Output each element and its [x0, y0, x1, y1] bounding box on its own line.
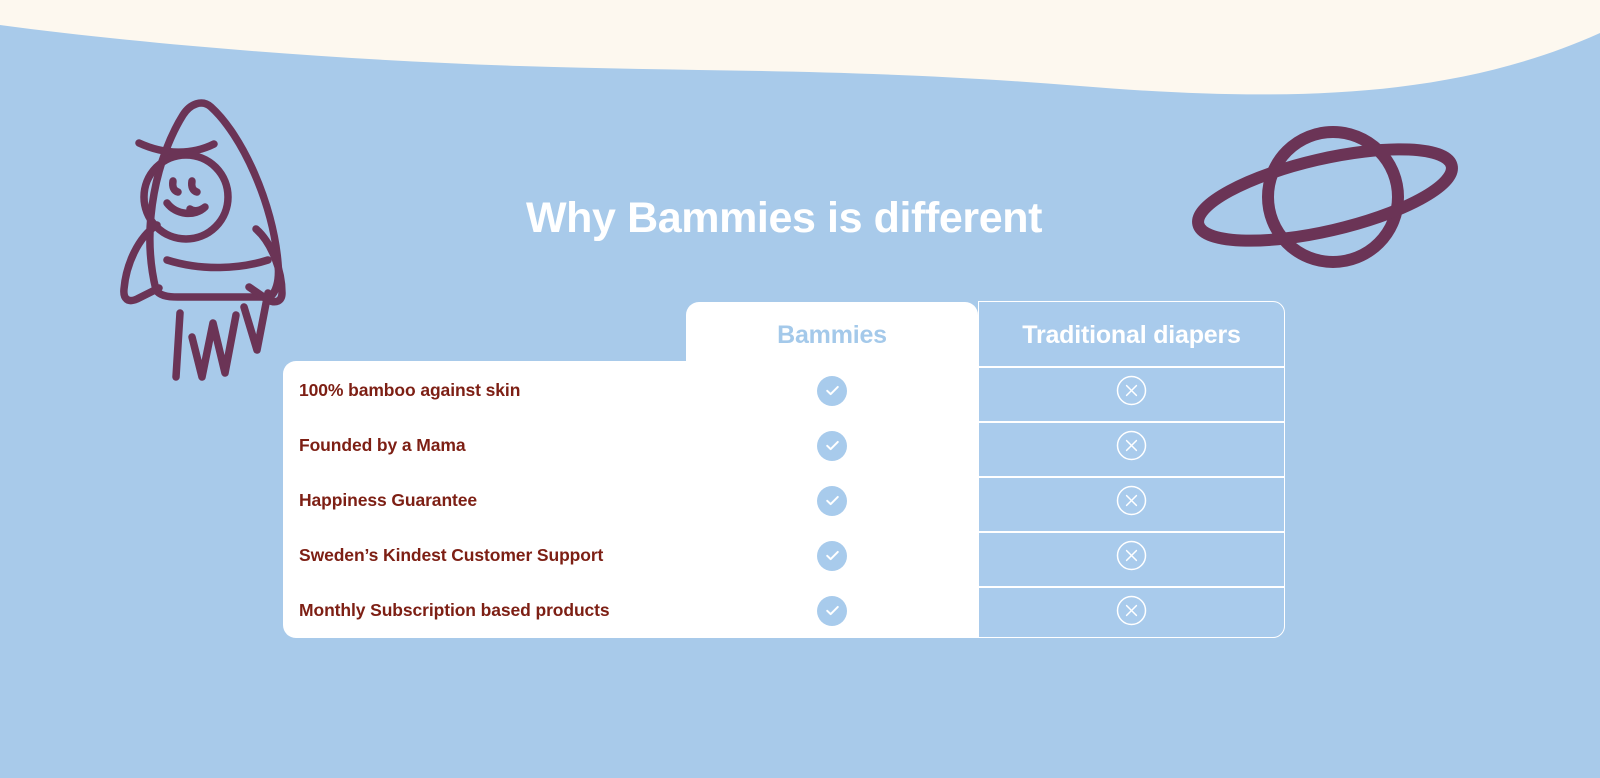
feature-label: Monthly Subscription based products [299, 583, 610, 638]
feature-label: Founded by a Mama [299, 418, 466, 473]
cross-circle-icon [1116, 540, 1147, 571]
check-circle-icon [817, 486, 847, 516]
cell-traditional [978, 418, 1285, 473]
feature-label: Happiness Guarantee [299, 473, 477, 528]
cell-traditional [978, 473, 1285, 528]
cross-circle-icon [1116, 375, 1147, 406]
cell-bammies [686, 583, 978, 638]
table-row: Founded by a Mama [283, 418, 1285, 473]
column-header-traditional: Traditional diapers [978, 313, 1285, 357]
cell-traditional [978, 583, 1285, 638]
check-circle-icon [817, 431, 847, 461]
cross-circle-icon [1116, 485, 1147, 516]
cell-bammies [686, 363, 978, 418]
page-root: Why Bammies is different Bammies Traditi… [0, 0, 1600, 778]
comparison-table: Bammies Traditional diapers 100% bamboo … [283, 295, 1293, 645]
table-row: Sweden’s Kindest Customer Support [283, 528, 1285, 583]
cell-bammies [686, 473, 978, 528]
page-title: Why Bammies is different [0, 195, 1568, 242]
cross-circle-icon [1116, 430, 1147, 461]
check-circle-icon [817, 376, 847, 406]
cell-bammies [686, 528, 978, 583]
table-row: Monthly Subscription based products [283, 583, 1285, 638]
cell-bammies [686, 418, 978, 473]
cross-circle-icon [1116, 595, 1147, 626]
check-circle-icon [817, 541, 847, 571]
check-circle-icon [817, 596, 847, 626]
table-body: 100% bamboo against skin Found [283, 361, 1285, 638]
cell-traditional [978, 363, 1285, 418]
table-row: 100% bamboo against skin [283, 363, 1285, 418]
feature-label: Sweden’s Kindest Customer Support [299, 528, 603, 583]
column-header-bammies: Bammies [686, 313, 978, 357]
feature-label: 100% bamboo against skin [299, 363, 520, 418]
table-row: Happiness Guarantee [283, 473, 1285, 528]
cell-traditional [978, 528, 1285, 583]
